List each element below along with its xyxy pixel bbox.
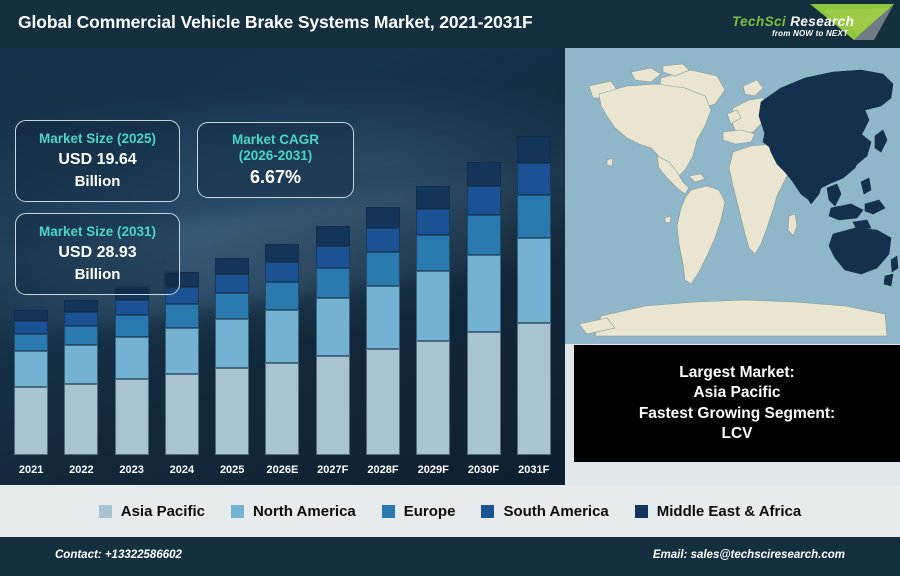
bar-segment-asia-pacific [14,387,48,455]
stat-title: Market Size (2025) [39,131,156,147]
legend-item-europe[interactable]: Europe [382,503,456,520]
techsci-logo: TechSci Research from NOW to NEXT [722,0,898,46]
bar-segment-middle-east-africa [366,207,400,228]
legend-label: Asia Pacific [121,503,205,520]
x-axis-label-2022: 2022 [59,464,103,476]
legend-swatch-icon [231,505,244,518]
bar-segment-north-america [215,319,249,368]
x-axis-label-2031F: 2031F [512,464,556,476]
bar-column-2030F [467,125,501,455]
bar-segment-europe [265,282,299,310]
legend-swatch-icon [481,505,494,518]
stat-unit: Billion [75,173,121,191]
stat-card-market-size-2031: Market Size (2031) USD 28.93 Billion [15,213,180,295]
stat-unit: Billion [75,266,121,284]
stat-card-market-cagr: Market CAGR (2026-2031) 6.67% [197,122,354,198]
bar-segment-south-america [64,312,98,326]
bar-segment-north-america [366,286,400,350]
bar-column-2031F [517,125,551,455]
logo-text-research: Research [786,14,854,29]
header-bar: Global Commercial Vehicle Brake Systems … [0,0,900,48]
bar-segment-north-america [64,345,98,384]
bar-segment-asia-pacific [115,379,149,455]
bar-segment-south-america [14,321,48,334]
x-axis-label-2027F: 2027F [311,464,355,476]
world-map-svg [565,48,900,344]
bar-segment-asia-pacific [165,374,199,455]
legend-label: North America [253,503,356,520]
x-axis-label-2024: 2024 [160,464,204,476]
bar-segment-middle-east-africa [265,244,299,262]
stat-card-market-size-2025: Market Size (2025) USD 19.64 Billion [15,120,180,202]
logo-text-tech: TechSci [732,14,786,29]
legend-item-north-america[interactable]: North America [231,503,356,520]
bar-segment-middle-east-africa [517,136,551,163]
bar-segment-north-america [316,298,350,356]
legend-item-asia-pacific[interactable]: Asia Pacific [99,503,205,520]
legend-swatch-icon [635,505,648,518]
bar-segment-north-america [416,271,450,341]
bar-segment-middle-east-africa [467,162,501,187]
logo-tagline: from NOW to NEXT [772,29,848,38]
bar-segment-asia-pacific [416,341,450,455]
bar-segment-asia-pacific [265,363,299,455]
x-axis-labels: 202120222023202420252026E2027F2028F2029F… [6,459,559,481]
x-axis-label-2025: 2025 [210,464,254,476]
bar-segment-south-america [467,186,501,215]
legend-label: Europe [404,503,456,520]
bar-segment-middle-east-africa [316,226,350,245]
fastest-segment-label: Fastest Growing Segment: [639,404,835,424]
bar-segment-asia-pacific [316,356,350,455]
stat-subtitle: (2026-2031) [239,148,313,164]
x-axis-label-2021: 2021 [9,464,53,476]
bar-segment-south-america [265,262,299,282]
x-axis-label-2026E: 2026E [260,464,304,476]
legend-label: South America [503,503,608,520]
bar-segment-europe [14,334,48,351]
legend-item-middle-east-africa[interactable]: Middle East & Africa [635,503,801,520]
bar-segment-south-america [517,163,551,195]
bar-segment-europe [165,304,199,327]
bar-segment-europe [467,215,501,255]
bar-segment-europe [416,235,450,271]
bar-segment-north-america [467,255,501,332]
bar-segment-south-america [115,300,149,316]
stat-value: USD 28.93 [58,241,136,264]
bar-segment-south-america [416,209,450,236]
bar-segment-asia-pacific [517,323,551,455]
highlight-info-box: Largest Market: Asia Pacific Fastest Gro… [574,345,900,462]
bar-column-2028F [366,125,400,455]
bar-segment-north-america [14,351,48,388]
bar-segment-asia-pacific [366,349,400,455]
footer-bar: Contact: +13322586602 Email: sales@techs… [0,537,900,576]
logo-wordmark: TechSci Research [732,14,854,29]
bar-segment-middle-east-africa [64,300,98,312]
largest-market-label: Largest Market: [679,363,794,383]
legend-item-south-america[interactable]: South America [481,503,608,520]
x-axis-label-2028F: 2028F [361,464,405,476]
bar-segment-middle-east-africa [416,186,450,209]
bar-segment-middle-east-africa [14,310,48,321]
legend-swatch-icon [99,505,112,518]
chart-panel: Market Size (2025) USD 19.64 Billion Mar… [0,48,565,485]
chart-legend: Asia PacificNorth AmericaEuropeSouth Ame… [0,485,900,537]
bar-segment-north-america [517,238,551,322]
infographic-page: Global Commercial Vehicle Brake Systems … [0,0,900,576]
x-axis-label-2030F: 2030F [462,464,506,476]
bar-segment-europe [64,326,98,345]
stat-title: Market CAGR [232,132,319,148]
bar-segment-europe [115,315,149,336]
stat-value: USD 19.64 [58,148,136,171]
bar-segment-europe [517,195,551,239]
bar-segment-north-america [165,328,199,374]
bar-segment-north-america [115,337,149,380]
x-axis-label-2029F: 2029F [411,464,455,476]
largest-market-value: Asia Pacific [693,383,780,403]
stat-value: 6.67% [250,167,301,188]
bar-segment-europe [366,252,400,285]
legend-swatch-icon [382,505,395,518]
bar-segment-asia-pacific [467,332,501,455]
x-axis-label-2023: 2023 [110,464,154,476]
footer-email: Email: sales@techsciresearch.com [653,549,845,561]
page-title: Global Commercial Vehicle Brake Systems … [18,12,533,33]
bar-segment-europe [316,268,350,298]
stat-title: Market Size (2031) [39,224,156,240]
bar-segment-south-america [215,274,249,293]
legend-label: Middle East & Africa [657,503,801,520]
bar-segment-north-america [265,310,299,363]
bar-segment-europe [215,293,249,318]
bar-segment-asia-pacific [64,384,98,455]
world-map [565,48,900,344]
bar-segment-south-america [366,228,400,252]
bar-segment-middle-east-africa [215,258,249,275]
bar-segment-south-america [316,246,350,268]
fastest-segment-value: LCV [722,424,753,444]
bar-column-2029F [416,125,450,455]
footer-contact: Contact: +13322586602 [55,549,182,561]
bar-segment-asia-pacific [215,368,249,455]
